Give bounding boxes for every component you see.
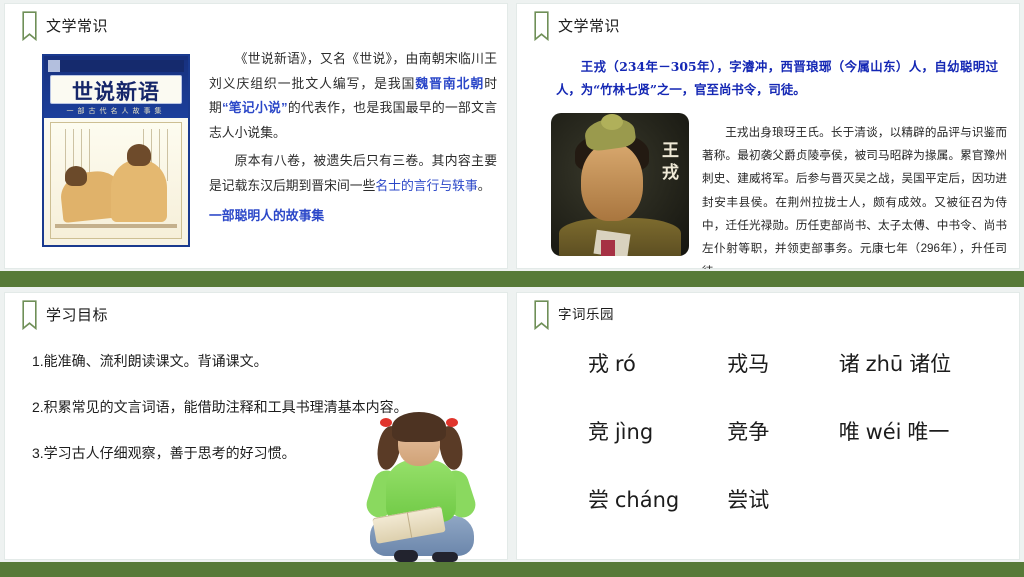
figure-right	[111, 160, 167, 222]
paragraph-1: 《世说新语》，又名《世说》，由南朝宋临川王刘义庆组织一批文人编写，是我国魏晋南北…	[209, 47, 497, 145]
portrait-topknot	[601, 114, 623, 130]
bookmark-icon	[22, 11, 37, 41]
word-char-pinyin-1a: 戎 ró	[588, 348, 727, 378]
green-footer-band	[0, 562, 1024, 577]
vocabulary-grid: 戎 ró 戎马 诸 zhū 诸位 竞 jìng 竞争 唯 wéi 唯一 尝 ch…	[588, 348, 988, 552]
word-char-pinyin-3a: 尝 cháng	[588, 484, 727, 514]
char: 竞	[588, 421, 609, 444]
pinyin: zhū	[866, 352, 904, 376]
author-biography: 王戎出身琅玡王氏。长于清谈，以精辟的品评与识鉴而著称。最初袭父爵贞陵亭侯，被司马…	[702, 121, 1007, 269]
section-title: 学习目标	[46, 308, 108, 323]
girl-reading-photo	[352, 412, 488, 562]
book-cover-subtitle: 一部古代名人故事集	[44, 106, 188, 116]
char: 戎	[588, 353, 609, 376]
bookmark-icon	[534, 300, 549, 330]
figure-right-head	[127, 144, 151, 166]
slide-deck: 文学常识 世说新语 一部古代名人故事集 《世说新语》	[0, 0, 1024, 577]
pinyin: jìng	[615, 420, 653, 444]
pinyin: cháng	[615, 488, 679, 512]
p2-seg-2: 。	[478, 178, 491, 193]
author-lead-text: 王戎（234年－305年），字濬冲，西晋琅琊（今属山东）人，自幼聪明过人，为“竹…	[556, 56, 998, 102]
pinyin: ró	[615, 352, 636, 376]
word-term-1b: 诸位	[909, 353, 951, 376]
p1-seg-3: “笔记小说”	[222, 100, 287, 115]
portrait-name-label: 王戎	[655, 141, 680, 185]
word-char-pinyin-2b: 唯 wéi 唯一	[839, 416, 988, 446]
author-portrait-image: 王戎	[551, 113, 689, 256]
bookmark-icon	[534, 11, 549, 41]
figure-left-head	[65, 166, 87, 186]
p1-seg-1: 魏晋南北朝	[415, 76, 484, 91]
section-header-top-left: 文学常识	[22, 11, 108, 41]
green-divider-band	[0, 271, 1024, 287]
girl-hair-bow-left	[380, 418, 392, 427]
word-char-pinyin-1b: 诸 zhū 诸位	[839, 348, 988, 378]
column-gutter	[508, 0, 516, 577]
section-title: 文学常识	[46, 19, 108, 34]
word-term-2a: 竞争	[727, 416, 838, 446]
vocabulary-row: 竞 jìng 竞争 唯 wéi 唯一	[588, 416, 988, 446]
book-description: 《世说新语》，又名《世说》，由南朝宋临川王刘义庆组织一批文人编写，是我国魏晋南北…	[209, 47, 497, 233]
pinyin: wéi	[866, 420, 902, 444]
section-header-bottom-left: 学习目标	[22, 300, 108, 330]
biography-paragraph: 王戎出身琅玡王氏。长于清谈，以精辟的品评与识鉴而著称。最初袭父爵贞陵亭侯，被司马…	[702, 121, 1007, 269]
char: 唯	[839, 421, 860, 444]
char: 尝	[588, 489, 609, 512]
book-cover-title: 世说新语	[44, 76, 188, 106]
girl-hair	[392, 412, 446, 442]
goal-item-1: 1.能准确、流利朗读课文。背诵课文。	[32, 352, 482, 370]
portrait-face	[581, 143, 643, 221]
book-tagline: 一部聪明人的故事集	[209, 204, 497, 229]
girl-sock-left	[394, 550, 418, 562]
vocabulary-row: 戎 ró 戎马 诸 zhū 诸位	[588, 348, 988, 378]
girl-sock-right	[432, 552, 458, 562]
portrait-red-trim	[601, 240, 615, 256]
panel-literature-common-sense-book: 文学常识 世说新语 一部古代名人故事集 《世说新语》	[4, 3, 508, 269]
book-cover-artwork	[50, 122, 182, 239]
char: 诸	[839, 353, 860, 376]
section-header-top-right: 文学常识	[534, 11, 620, 41]
word-term-3a: 尝试	[727, 484, 838, 514]
girl-hair-bow-right	[446, 418, 458, 427]
p2-seg-1: 名士的言行与轶事	[375, 178, 477, 193]
word-char-pinyin-2a: 竞 jìng	[588, 416, 727, 446]
bookmark-icon	[22, 300, 37, 330]
ground-line	[55, 224, 177, 228]
vocabulary-row: 尝 cháng 尝试	[588, 484, 988, 514]
section-title: 文学常识	[558, 19, 620, 34]
book-cover-strip	[48, 60, 184, 72]
word-term-1a: 戎马	[727, 348, 838, 378]
book-cover-image: 世说新语 一部古代名人故事集	[42, 54, 190, 247]
word-term-2b: 唯一	[907, 421, 949, 444]
panel-literature-common-sense-author: 文学常识 王戎（234年－305年），字濬冲，西晋琅琊（今属山东）人，自幼聪明过…	[516, 3, 1020, 269]
paragraph-2: 原本有八卷，被遗失后只有三卷。其内容主要是记载东汉后期到晋宋间一些名士的言行与轶…	[209, 149, 497, 198]
section-title: 字词乐园	[558, 308, 614, 322]
section-header-bottom-right: 字词乐园	[534, 300, 614, 330]
panel-vocabulary-garden: 字词乐园 戎 ró 戎马 诸 zhū 诸位 竞 jìng 竞争 唯 wéi 唯一…	[516, 292, 1020, 560]
